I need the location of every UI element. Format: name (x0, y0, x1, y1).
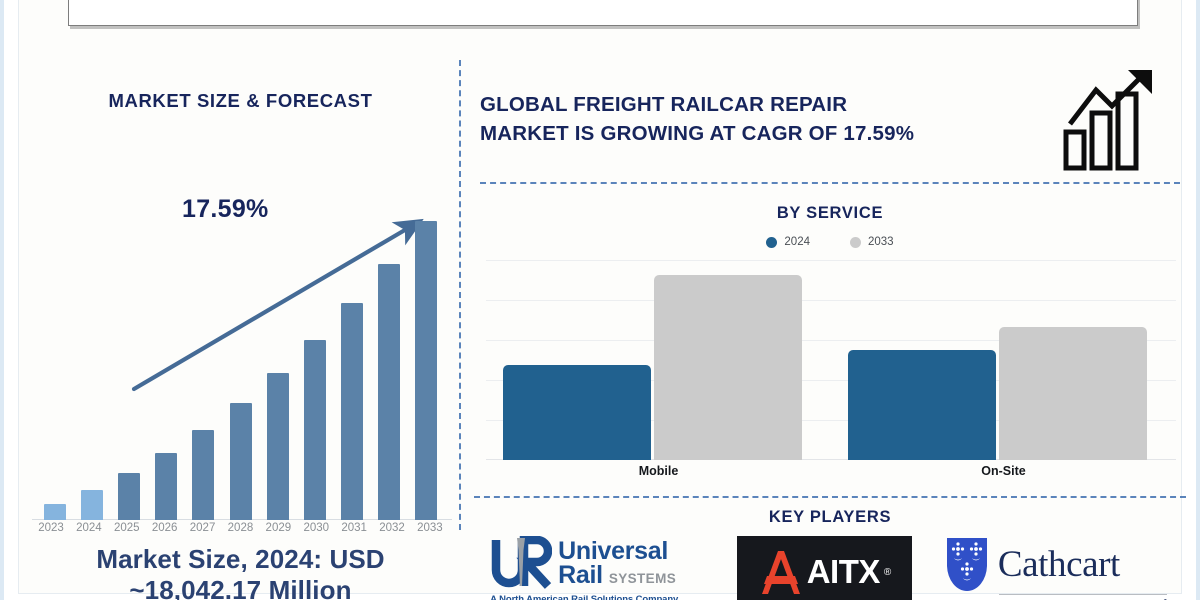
logo-cathcart-text: Cathcart (998, 546, 1120, 583)
left-panel: MARKET SIZE & FORECAST 17.59% 2023202420… (22, 60, 459, 600)
universal-rail-mark-icon (490, 536, 552, 590)
gridline (486, 260, 1176, 261)
forecast-bar (81, 490, 103, 520)
forecast-bar (118, 473, 140, 520)
service-category-label: Mobile (486, 464, 831, 478)
forecast-bar (267, 373, 289, 520)
cagr-statement-line-1: GLOBAL FREIGHT RAILCAR REPAIR (480, 90, 1050, 119)
logo-systems-text: SYSTEMS (609, 573, 676, 586)
legend-item[interactable]: 2033 (850, 236, 894, 248)
service-bar (654, 275, 802, 460)
by-service-chart (486, 260, 1176, 460)
service-category-label: On-Site (831, 464, 1176, 478)
year-label: 2025 (110, 522, 144, 534)
year-label: 2031 (337, 522, 371, 534)
year-label: 2032 (375, 522, 409, 534)
forecast-bar (378, 264, 400, 520)
market-size-forecast-chart (22, 190, 459, 520)
forecast-bar (155, 453, 177, 520)
forecast-bar (192, 430, 214, 520)
key-players-logos: Universal Rail SYSTEMS A North American … (474, 536, 1186, 600)
forecast-bar (341, 303, 363, 520)
legend-label: 2033 (868, 236, 894, 248)
cagr-statement: GLOBAL FREIGHT RAILCAR REPAIR MARKET IS … (480, 90, 1050, 148)
cathcart-shield-icon (945, 536, 989, 592)
market-size-value: Market Size, 2024: USD ~18,042.17 Millio… (22, 544, 459, 600)
logo-aitx-registered: ® (884, 567, 891, 578)
right-panel: GLOBAL FREIGHT RAILCAR REPAIR MARKET IS … (474, 56, 1186, 600)
year-label: 2027 (186, 522, 220, 534)
year-label: 2030 (299, 522, 333, 534)
logo-cathcart-rail: Cathcart Rail (945, 536, 1170, 600)
horizontal-divider-bottom (474, 496, 1186, 498)
gridline (486, 300, 1176, 301)
by-service-title: BY SERVICE (474, 204, 1186, 223)
logo-aitx: AITX ® (737, 536, 912, 600)
forecast-bar (415, 221, 437, 520)
year-label: 2023 (34, 522, 68, 534)
year-label: 2024 (72, 522, 106, 534)
market-size-line-2: ~18,042.17 Million (22, 575, 459, 600)
legend-swatch-icon (766, 237, 777, 248)
aitx-mark-icon (759, 549, 803, 595)
by-service-legend: 20242033 (474, 236, 1186, 248)
page-title: GLOBAL FREIGHT RAILCAR REPAIR MARKET (318, 0, 887, 5)
logo-universal-text: Universal (558, 539, 676, 563)
vertical-divider (459, 60, 461, 530)
horizontal-divider-top (480, 182, 1180, 184)
year-axis-labels: 2023202420252026202720282029203020312032… (22, 522, 459, 534)
market-size-line-1: Market Size, 2024: USD (22, 544, 459, 575)
year-label: 2026 (148, 522, 182, 534)
logo-universal-rail-systems: Universal Rail SYSTEMS A North American … (490, 536, 705, 600)
legend-swatch-icon (850, 237, 861, 248)
service-bar (848, 350, 996, 461)
growth-bar-arrow-icon (1062, 66, 1162, 171)
year-label: 2028 (223, 522, 257, 534)
year-label: 2033 (413, 522, 447, 534)
logo-cathcart-rail-text: Rail (945, 596, 1167, 600)
forecast-bar (44, 504, 66, 521)
market-size-heading: MARKET SIZE & FORECAST (22, 90, 459, 112)
legend-item[interactable]: 2024 (766, 236, 810, 248)
logo-rail-text: Rail (558, 563, 603, 587)
key-players-title: KEY PLAYERS (474, 508, 1186, 527)
logo-aitx-text: AITX (807, 553, 880, 591)
forecast-bar (230, 403, 252, 520)
forecast-bar (304, 340, 326, 520)
by-service-category-labels: MobileOn-Site (486, 464, 1176, 478)
service-bar (503, 365, 651, 460)
cagr-statement-line-2: MARKET IS GROWING AT CAGR OF 17.59% (480, 119, 1050, 148)
service-bar (999, 327, 1147, 460)
logo-universal-rail-tagline: A North American Rail Solutions Company (490, 594, 705, 600)
page-title-banner: GLOBAL FREIGHT RAILCAR REPAIR MARKET (68, 0, 1138, 26)
legend-label: 2024 (784, 236, 810, 248)
infographic-canvas: GLOBAL FREIGHT RAILCAR REPAIR MARKET MAR… (0, 0, 1200, 600)
logo-cathcart-rule (999, 594, 1167, 595)
year-label: 2029 (261, 522, 295, 534)
